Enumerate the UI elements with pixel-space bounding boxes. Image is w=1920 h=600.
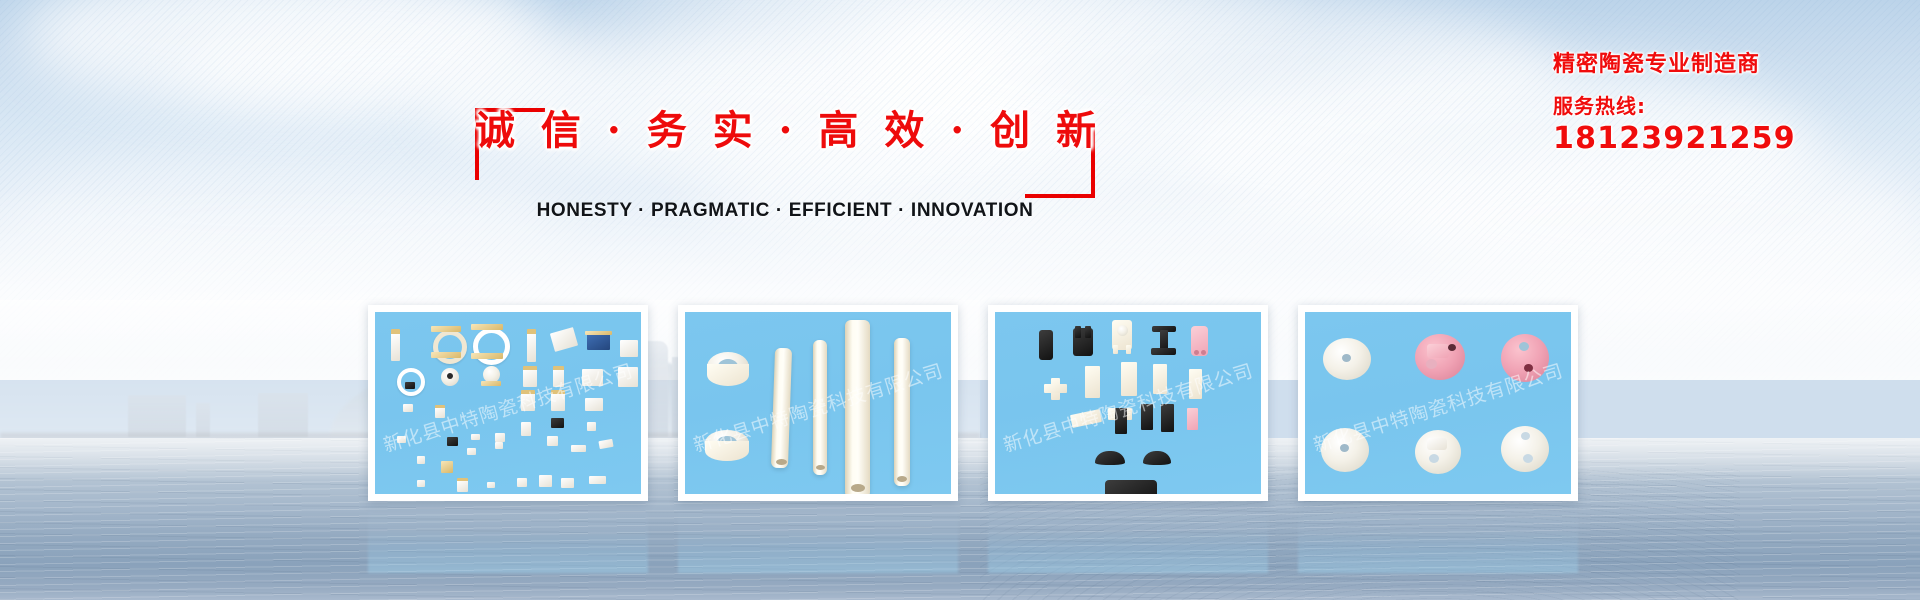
contact-block: 精密陶瓷专业制造商 服务热线: 18123921259 — [1553, 50, 1903, 156]
bracket-bottom-right-horizontal — [1025, 194, 1095, 198]
hotline-label: 服务热线: — [1553, 90, 1903, 122]
panel-image: 新化县中特陶瓷科技有限公司 — [375, 312, 641, 494]
company-tagline: 精密陶瓷专业制造商 — [1553, 50, 1903, 80]
panel-image: 新化县中特陶瓷科技有限公司 — [995, 312, 1261, 494]
product-panel-ceramic-blocks[interactable]: 新化县中特陶瓷科技有限公司 — [988, 305, 1268, 501]
product-panel-ceramic-tubes[interactable]: 新化县中特陶瓷科技有限公司 — [678, 305, 958, 501]
panel-image: 新化县中特陶瓷科技有限公司 — [1305, 312, 1571, 494]
slogan-block: 诚 信 · 务 实 · 高 效 · 创 新 — [475, 108, 1095, 198]
slogan-chinese: 诚 信 · 务 实 · 高 效 · 创 新 — [475, 106, 1095, 156]
slogan-english: HONESTY · PRAGMATIC · EFFICIENT · INNOVA… — [475, 200, 1095, 222]
product-panel-ceramic-discs[interactable]: 新化县中特陶瓷科技有限公司 — [1298, 305, 1578, 501]
panel-image: 新化县中特陶瓷科技有限公司 — [685, 312, 951, 494]
hero-banner: 新化县中特陶瓷科技有限公司 — [0, 0, 1920, 600]
product-panel-smd-components[interactable]: 新化县中特陶瓷科技有限公司 — [368, 305, 648, 501]
hotline-number[interactable]: 18123921259 — [1553, 122, 1903, 156]
